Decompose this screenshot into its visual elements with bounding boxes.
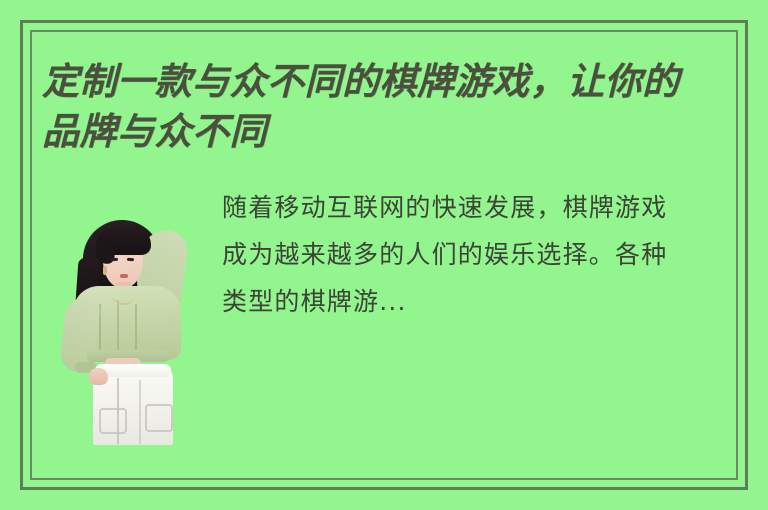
model-photo	[55, 212, 200, 445]
trouser-pleat	[139, 380, 141, 444]
knit-texture-line	[135, 304, 137, 350]
earring	[103, 266, 107, 275]
hand-on-hip	[89, 368, 108, 385]
eye-left	[111, 258, 118, 261]
lips	[120, 274, 128, 278]
pocket-right	[145, 404, 173, 432]
knit-texture-line	[117, 300, 119, 352]
page-title: 定制一款与众不同的棋牌游戏，让你的 品牌与众不同	[42, 58, 742, 158]
pocket-left	[99, 408, 127, 434]
body-paragraph: 随着移动互联网的快速发展，棋牌游戏 成为越来越多的人们的娱乐选择。各种 类型的棋…	[222, 184, 734, 325]
promo-card: 定制一款与众不同的棋牌游戏，让你的 品牌与众不同 随着移动互联网的快速发展，棋牌…	[0, 0, 768, 510]
eye-right	[127, 258, 134, 261]
